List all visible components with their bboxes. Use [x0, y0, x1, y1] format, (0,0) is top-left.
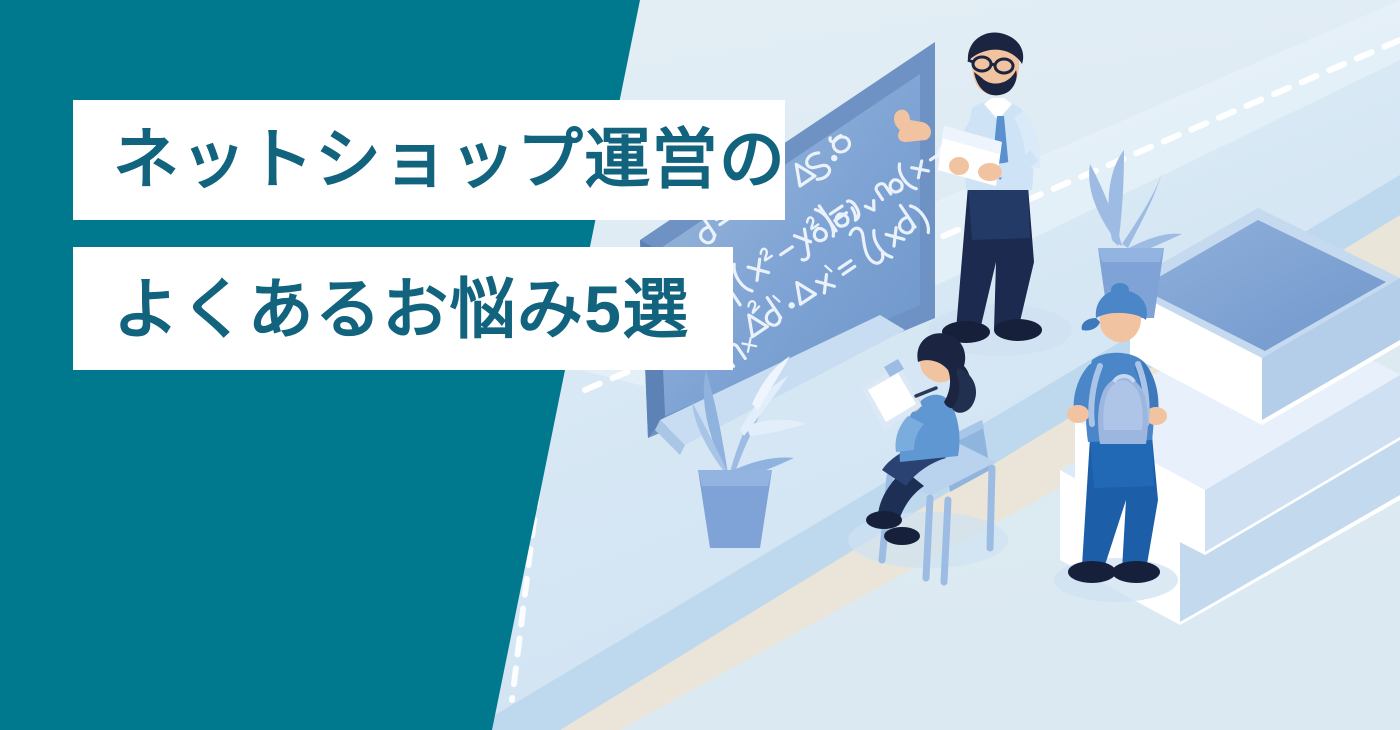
title-line-2: よくあるお悩み5選	[73, 247, 733, 370]
teacher-trousers-highlight	[968, 186, 1030, 240]
seated-shoe-left	[866, 511, 902, 529]
student-cap-button	[1111, 283, 1129, 297]
plant-right-pot-rim	[1098, 248, 1164, 262]
teacher-shoe-right	[994, 319, 1042, 341]
teacher-hand-left	[949, 157, 969, 175]
student-shoe-left	[1068, 561, 1116, 583]
student-shadow	[1054, 558, 1178, 602]
seated-shoe-right	[884, 527, 920, 545]
title-block: ネットショップ運営の よくあるお悩み5選	[73, 100, 785, 370]
title-line-1: ネットショップ運営の	[73, 100, 785, 220]
student-hand-left	[1067, 405, 1089, 423]
student-shoe-right	[1112, 561, 1160, 583]
banner-root: ネットショップ運営の よくあるお悩み5選	[0, 0, 1400, 730]
title-plate-gap	[73, 220, 785, 247]
plant-left-pot-rim	[698, 470, 772, 486]
teacher-hand-right	[978, 163, 1002, 181]
